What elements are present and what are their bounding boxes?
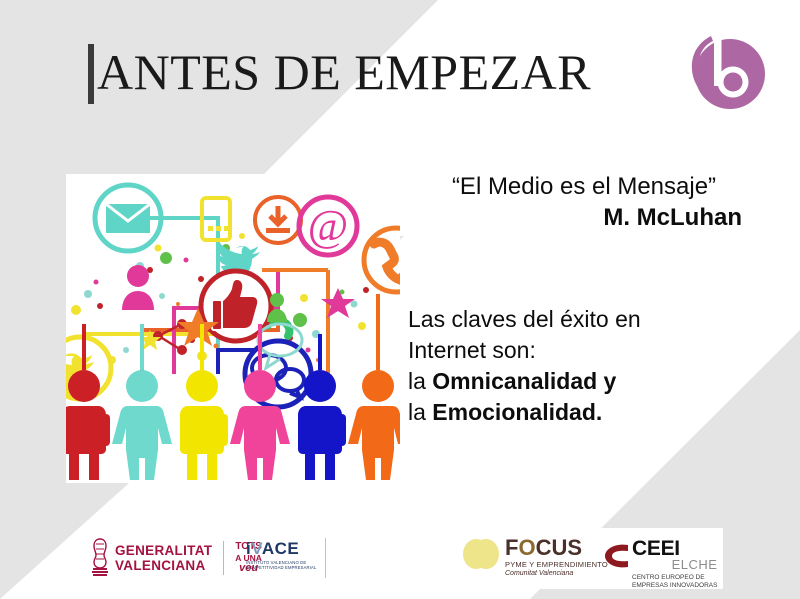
ivace-word-slash: V — [251, 539, 262, 558]
focus-word-rest: CUS — [536, 535, 582, 560]
ivace-word-right: ACE — [262, 539, 299, 558]
ceei-sub-line2: EMPRESAS INNOVADORAS — [632, 582, 717, 590]
keys-line: Las claves del éxito en — [408, 304, 768, 335]
success-keys-block: Las claves del éxito en Internet son: la… — [408, 304, 768, 428]
quote-author: M. McLuhan — [408, 202, 760, 234]
ceei-subtitle: CENTRO EUROPEO DE EMPRESAS INNOVADORAS — [632, 574, 717, 590]
ceei-wordmark: CEEI — [632, 538, 717, 559]
focus-circles-icon — [463, 539, 499, 573]
keys-line-bold: Omnicanalidad y — [432, 368, 616, 394]
logo-divider — [223, 541, 224, 575]
footer-divider — [325, 538, 326, 578]
keys-line-plain: la — [408, 399, 432, 425]
generalitat-valenciana-logo: GENERALITAT VALENCIANA TOTS A UNA veu — [90, 536, 262, 580]
ceei-elche-logo: CEEI ELCHE CENTRO EUROPEO DE EMPRESAS IN… — [603, 538, 717, 590]
focus-subtitle-1: PYME Y EMPRENDIMIENTO — [505, 561, 608, 569]
ivace-logo: iVACE INSTITUTO VALENCIANO DE COMPETITIV… — [246, 540, 316, 571]
focus-word-f: F — [505, 535, 518, 560]
focus-wordmark: FOCUS — [505, 537, 608, 559]
keys-line-plain: Las claves del éxito en — [408, 306, 641, 332]
letter-b-logo — [687, 32, 765, 116]
quote-text: “El Medio es el Mensaje” — [408, 172, 760, 202]
title-accent-bar — [88, 44, 94, 104]
focus-pyme-logo: FOCUS PYME Y EMPRENDIMIENTO Comunitat Va… — [463, 537, 608, 577]
focus-word-o: O — [518, 535, 535, 560]
ivace-sub-line2: COMPETITIVIDAD EMPRESARIAL — [246, 565, 316, 570]
generalitat-wordmark: GENERALITAT VALENCIANA — [115, 543, 212, 573]
focus-subtitle-2: Comunitat Valenciana — [505, 570, 608, 577]
keys-line: la Omnicanalidad y — [408, 366, 768, 397]
slide-canvas: ANTES DE EMPEZAR — [0, 0, 800, 599]
generalitat-crest-icon — [90, 538, 110, 578]
generalitat-line1: GENERALITAT — [115, 543, 212, 558]
ivace-wordmark: iVACE — [246, 540, 316, 558]
keys-line: Internet son: — [408, 335, 768, 366]
svg-text:@: @ — [308, 201, 349, 250]
keys-line: la Emocionalidad. — [408, 397, 768, 428]
generalitat-line2: VALENCIANA — [115, 558, 212, 573]
keys-line-bold: Emocionalidad. — [432, 399, 602, 425]
footer-logo-band: GENERALITAT VALENCIANA TOTS A UNA veu iV… — [78, 528, 723, 589]
page-title: ANTES DE EMPEZAR — [97, 41, 591, 103]
ceei-bracket-icon — [603, 541, 629, 571]
ivace-subtitle: INSTITUTO VALENCIANO DE COMPETITIVIDAD E… — [246, 560, 316, 571]
ceei-sub-line1: CENTRO EUROPEO DE — [632, 574, 717, 582]
ceei-text: CEEI ELCHE CENTRO EUROPEO DE EMPRESAS IN… — [632, 538, 717, 590]
keys-line-plain: Internet son: — [408, 337, 536, 363]
focus-text: FOCUS PYME Y EMPRENDIMIENTO Comunitat Va… — [505, 537, 608, 577]
social-media-omnichannel-illustration: @ — [66, 174, 400, 483]
keys-line-plain: la — [408, 368, 432, 394]
quote-block: “El Medio es el Mensaje” M. McLuhan — [408, 172, 760, 234]
